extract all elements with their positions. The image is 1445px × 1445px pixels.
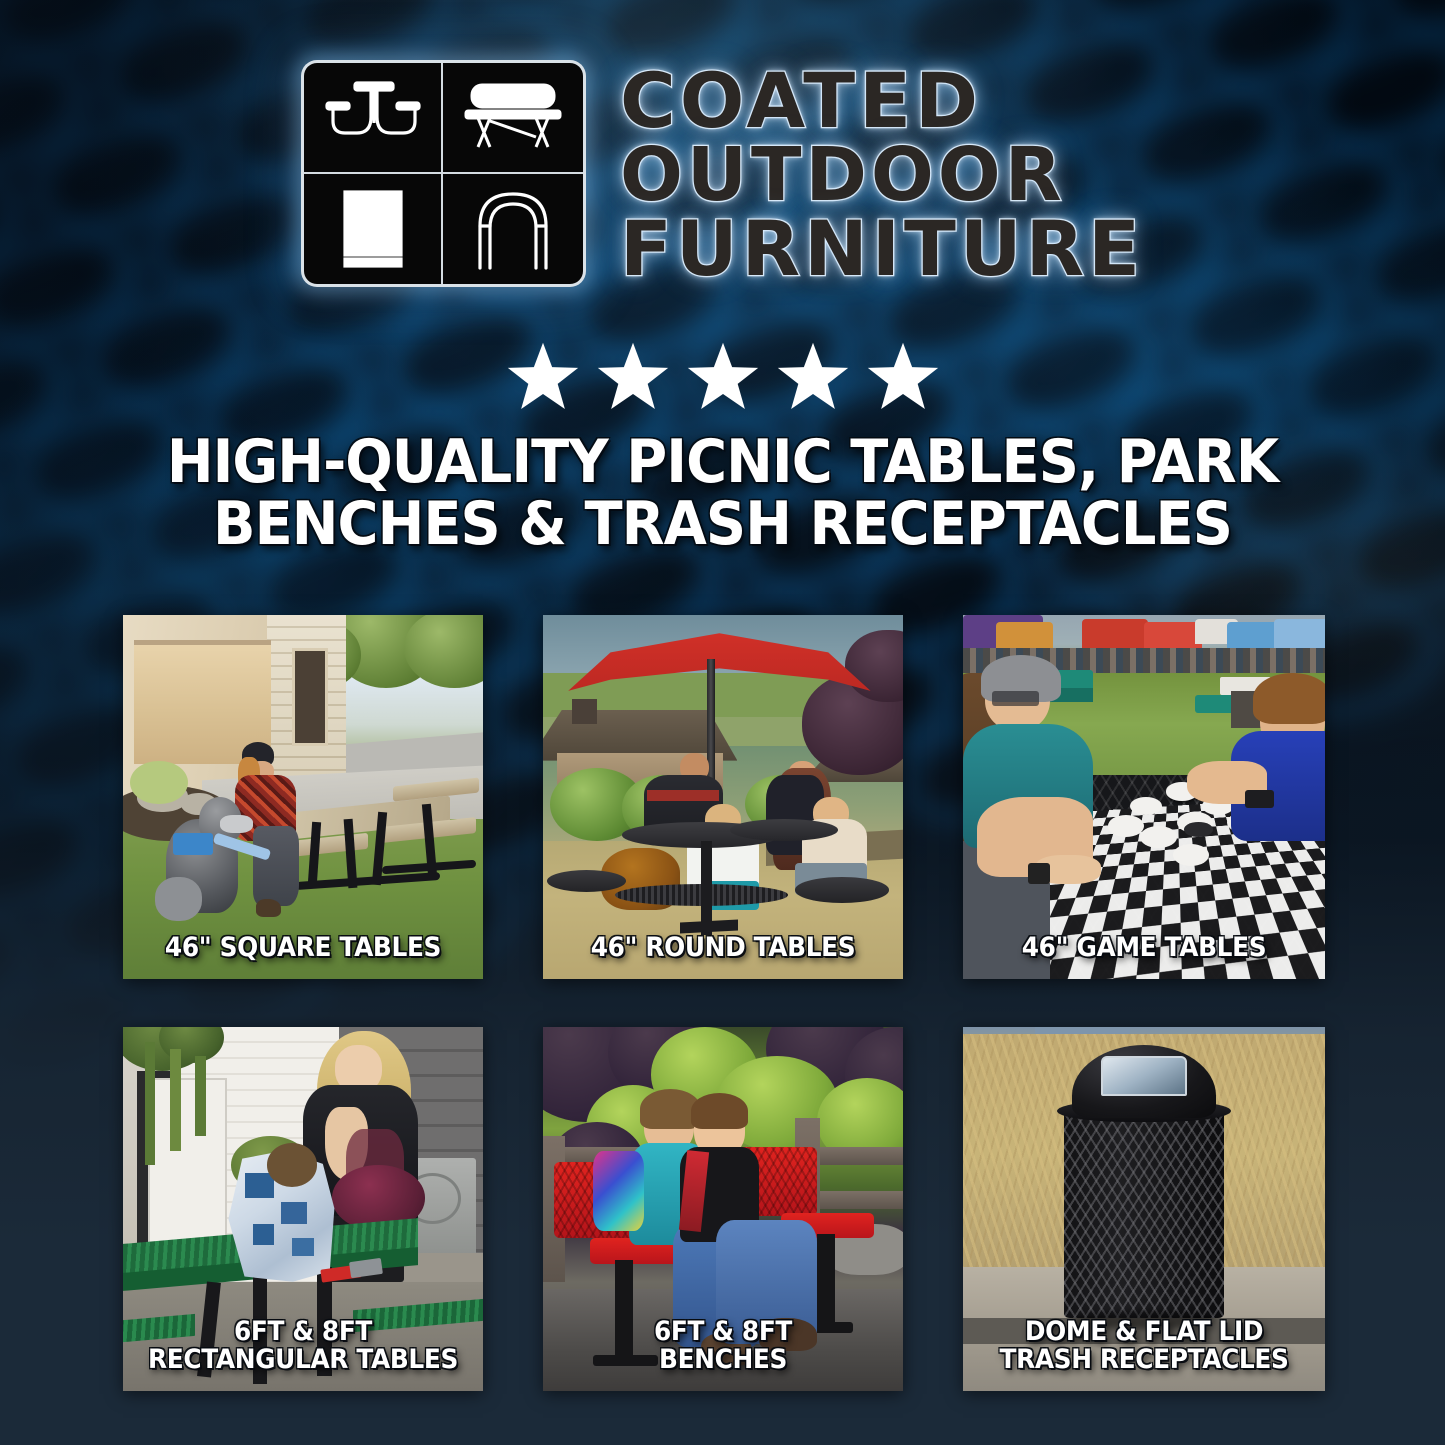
- brand-name-line-2: OUTDOOR: [620, 140, 1144, 211]
- caption-line-2: RECTANGULAR TABLES: [137, 1346, 468, 1375]
- product-tile-benches[interactable]: 6FT & 8FT BENCHES: [543, 1027, 903, 1391]
- picnic-table-icon: [304, 63, 444, 174]
- caption-line-1: 6FT & 8FT: [137, 1318, 468, 1347]
- product-caption-square-tables: 46" SQUARE TABLES: [137, 934, 468, 963]
- caption-line-1: 46" ROUND TABLES: [557, 934, 888, 963]
- caption-line-1: 46" SQUARE TABLES: [137, 934, 468, 963]
- headline-line-2: BENCHES & TRASH RECEPTACLES: [51, 494, 1395, 556]
- star-icon: [597, 341, 669, 411]
- headline-line-1: HIGH-QUALITY PICNIC TABLES, PARK: [51, 432, 1395, 494]
- product-photo-game-tables: [963, 615, 1325, 979]
- star-icon: [507, 341, 579, 411]
- product-tile-game-tables[interactable]: 46" GAME TABLES: [963, 615, 1325, 979]
- brand-logo-block: COATED OUTDOOR FURNITURE: [0, 60, 1445, 287]
- caption-line-2: BENCHES: [557, 1346, 888, 1375]
- headline: HIGH-QUALITY PICNIC TABLES, PARK BENCHES…: [51, 432, 1395, 556]
- star-rating: [0, 341, 1445, 411]
- product-caption-trash-receptacles: DOME & FLAT LID TRASH RECEPTACLES: [977, 1318, 1310, 1375]
- caption-line-2: TRASH RECEPTACLES: [977, 1346, 1310, 1375]
- bench-icon: [443, 63, 583, 174]
- trash-receptacle-icon: [304, 174, 444, 285]
- product-tile-rectangular-tables[interactable]: 6FT & 8FT RECTANGULAR TABLES: [123, 1027, 483, 1391]
- star-icon: [867, 341, 939, 411]
- product-photo-round-tables: [543, 615, 903, 979]
- star-icon: [777, 341, 849, 411]
- product-grid: 46" SQUARE TABLES: [123, 615, 1325, 1391]
- product-caption-rectangular-tables: 6FT & 8FT RECTANGULAR TABLES: [137, 1318, 468, 1375]
- product-tile-trash-receptacles[interactable]: DOME & FLAT LID TRASH RECEPTACLES: [963, 1027, 1325, 1391]
- bike-rack-icon: [443, 174, 583, 285]
- product-caption-game-tables: 46" GAME TABLES: [977, 934, 1310, 963]
- product-tile-square-tables[interactable]: 46" SQUARE TABLES: [123, 615, 483, 979]
- brand-name-line-1: COATED: [620, 65, 1144, 138]
- brand-name: COATED OUTDOOR FURNITURE: [620, 61, 1144, 286]
- logo-mark: [301, 60, 586, 287]
- caption-line-1: 6FT & 8FT: [557, 1318, 888, 1347]
- caption-line-1: 46" GAME TABLES: [977, 934, 1310, 963]
- product-tile-round-tables[interactable]: 46" ROUND TABLES: [543, 615, 903, 979]
- product-caption-round-tables: 46" ROUND TABLES: [557, 934, 888, 963]
- product-caption-benches: 6FT & 8FT BENCHES: [557, 1318, 888, 1375]
- star-icon: [687, 341, 759, 411]
- brand-name-line-3: FURNITURE: [620, 213, 1144, 286]
- product-photo-square-tables: [123, 615, 483, 979]
- caption-line-1: DOME & FLAT LID: [977, 1318, 1310, 1347]
